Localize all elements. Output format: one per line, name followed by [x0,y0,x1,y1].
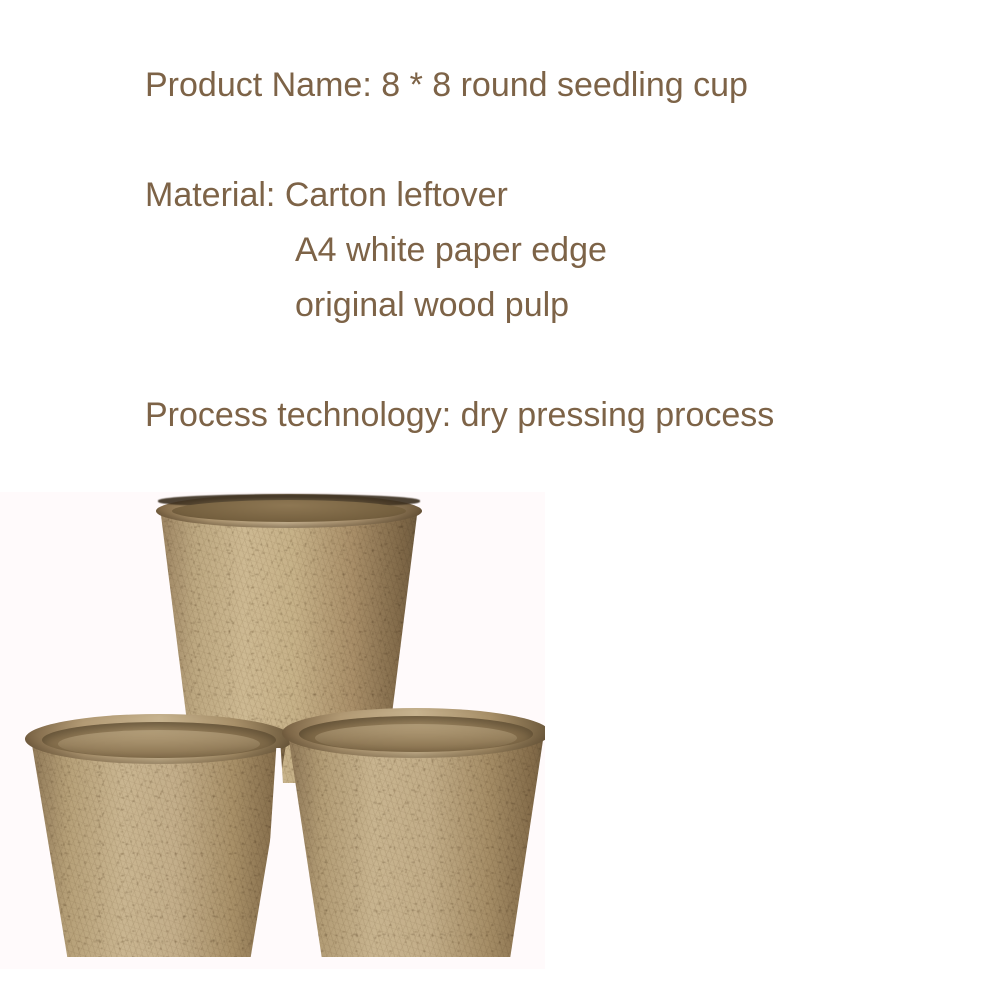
spec-line-material: Material: Carton leftover [0,168,1000,223]
spec-spacer-2 [0,333,1000,388]
back-top-pot-interior [172,500,406,522]
product-photo [0,492,545,969]
spec-line-material-a4: A4 white paper edge [0,223,1000,278]
product-spec-text: Product Name: 8 * 8 round seedling cup M… [0,0,1000,443]
spec-spacer-1 [0,113,1000,168]
front-left-pot-inner-wall [58,730,260,758]
front-left-pot [28,720,290,957]
front-right-pot-inner-wall [315,724,517,752]
spec-line-product-name: Product Name: 8 * 8 round seedling cup [0,58,1000,113]
spec-line-process-technology: Process technology: dry pressing process [0,388,1000,443]
front-right-pot [285,714,545,957]
spec-line-material-wood-pulp: original wood pulp [0,278,1000,333]
